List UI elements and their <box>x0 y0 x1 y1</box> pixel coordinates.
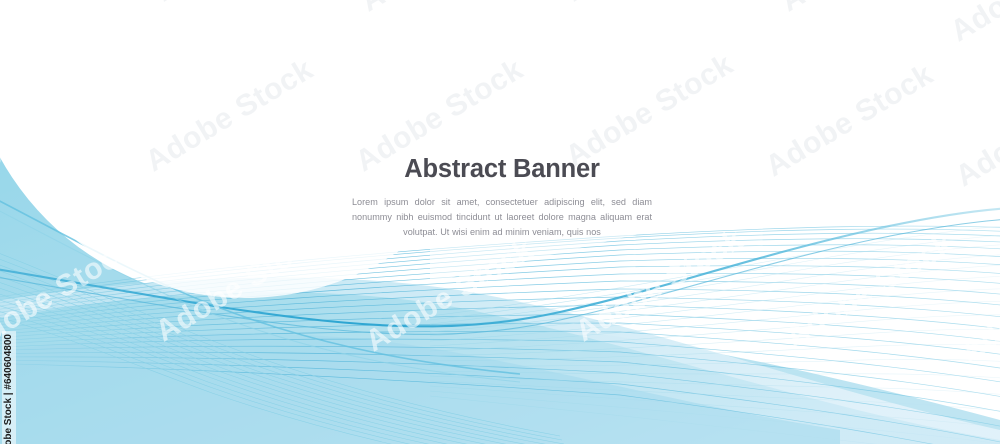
abstract-banner: Adobe Stock Adobe Stock Adobe Stock Adob… <box>0 0 1000 444</box>
banner-artwork <box>0 0 1000 444</box>
